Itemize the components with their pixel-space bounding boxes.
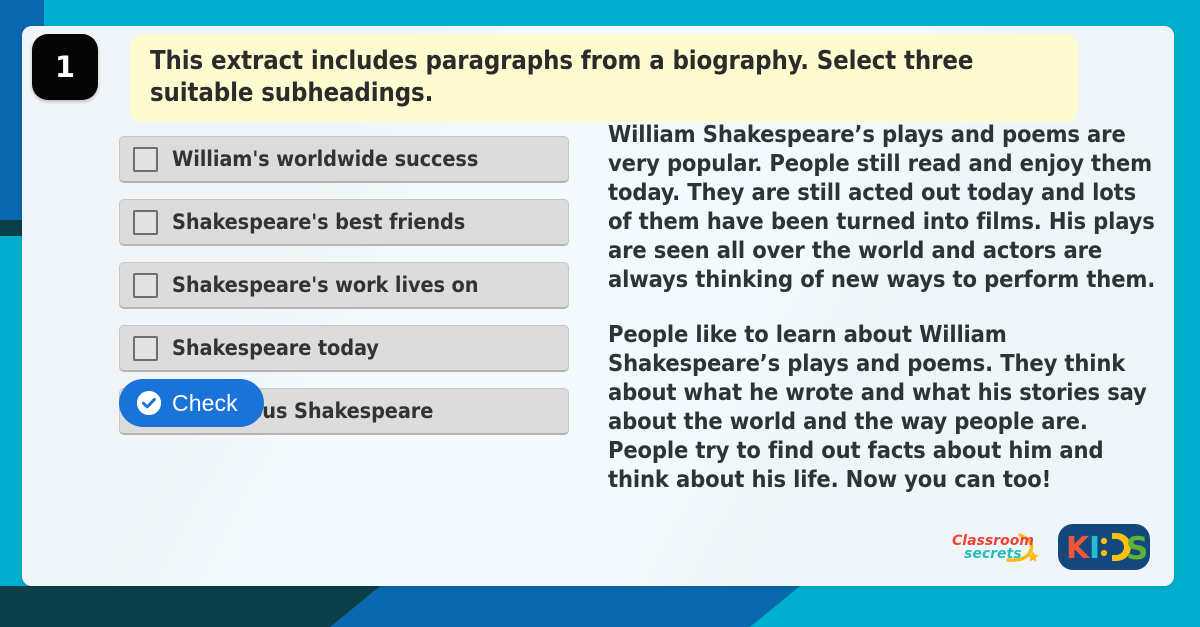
option-label: Shakespeare today xyxy=(172,336,379,361)
svg-text:S: S xyxy=(1126,531,1148,567)
option-label: Shakespeare's work lives on xyxy=(172,273,478,298)
svg-text:K: K xyxy=(1066,531,1091,566)
svg-text:secrets: secrets xyxy=(964,546,1022,562)
check-circle-icon xyxy=(137,391,161,415)
option-row[interactable]: Shakespeare's work lives on xyxy=(119,262,569,309)
question-number-label: 1 xyxy=(55,53,75,82)
option-row[interactable]: William's worldwide success xyxy=(119,136,569,183)
check-button-label: Check xyxy=(172,390,238,417)
passage-paragraph: William Shakespeare’s plays and poems ar… xyxy=(608,120,1158,294)
slide-stage: 1 This extract includes paragraphs from … xyxy=(0,0,1200,627)
option-row[interactable]: Shakespeare today xyxy=(119,325,569,372)
kids-logo: K I S xyxy=(1058,524,1150,570)
classroom-secrets-logo: Classroom secrets xyxy=(950,529,1046,565)
option-checkbox[interactable] xyxy=(133,273,158,298)
question-number-badge: 1 xyxy=(32,34,98,100)
activity-card: 1 This extract includes paragraphs from … xyxy=(22,26,1174,586)
svg-text:I: I xyxy=(1089,531,1100,566)
question-text: This extract includes paragraphs from a … xyxy=(150,45,1058,109)
option-checkbox[interactable] xyxy=(133,147,158,172)
option-checkbox[interactable] xyxy=(133,336,158,361)
passage-paragraph: People like to learn about William Shake… xyxy=(608,320,1158,494)
passage-text: William Shakespeare’s plays and poems ar… xyxy=(608,120,1158,494)
branding-logos: Classroom secrets K I S xyxy=(950,524,1150,570)
option-label: William's worldwide success xyxy=(172,147,478,172)
option-checkbox[interactable] xyxy=(133,210,158,235)
option-label: Shakespeare's best friends xyxy=(172,210,465,235)
frame-band-blue-bottom xyxy=(330,586,800,627)
check-button[interactable]: Check xyxy=(119,379,264,427)
option-row[interactable]: Shakespeare's best friends xyxy=(119,199,569,246)
question-banner: This extract includes paragraphs from a … xyxy=(130,34,1078,122)
